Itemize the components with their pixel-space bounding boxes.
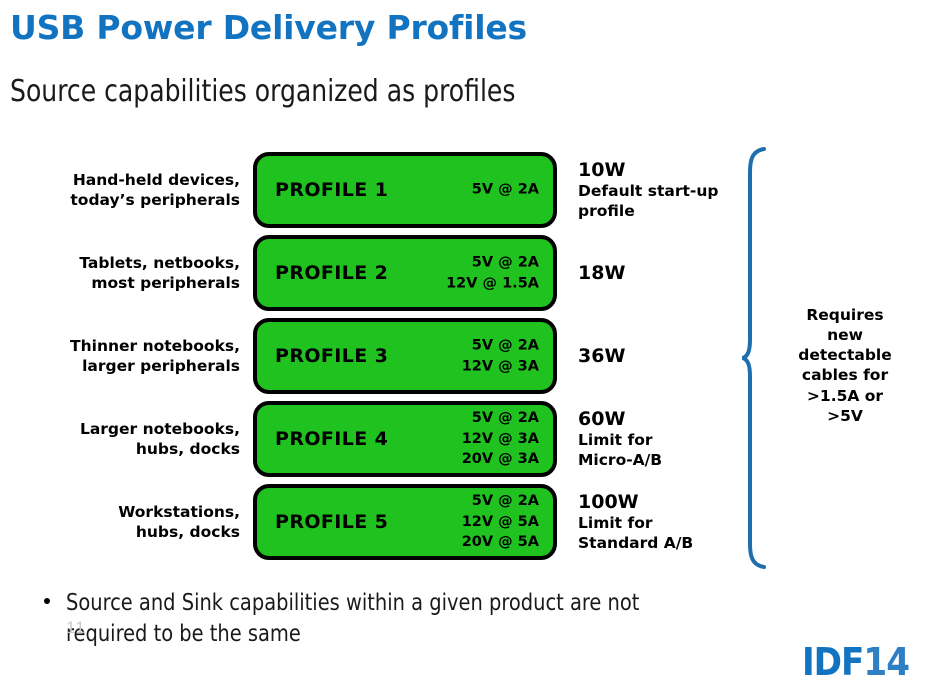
profile-row: Hand-held devices, today’s peripherals P… bbox=[0, 152, 927, 228]
profile-box[interactable]: PROFILE 2 5V @ 2A 12V @ 1.5A bbox=[253, 235, 557, 311]
brace-note-line: new bbox=[772, 325, 918, 345]
page-subtitle: Source capabilities organized as profile… bbox=[10, 74, 515, 109]
profile-name: PROFILE 3 bbox=[275, 345, 388, 367]
device-label: Tablets, netbooks, most peripherals bbox=[12, 235, 240, 311]
brace-note-line: >1.5A or bbox=[772, 386, 918, 406]
brace-note-line: cables for bbox=[772, 365, 918, 385]
device-label: Larger notebooks, hubs, docks bbox=[12, 401, 240, 477]
power-label: 36W bbox=[578, 318, 748, 394]
power-note-line: Limit for bbox=[578, 431, 748, 451]
bullet-text-line: required to be the same bbox=[66, 619, 807, 650]
brace-note-line: >5V bbox=[772, 406, 918, 426]
voltage-line: 20V @ 5A bbox=[462, 532, 539, 553]
voltage-line: 12V @ 3A bbox=[462, 429, 539, 450]
voltage-line: 12V @ 1.5A bbox=[446, 273, 539, 294]
power-watts: 60W bbox=[578, 407, 748, 431]
power-label: 18W bbox=[578, 235, 748, 311]
voltage-line: 5V @ 2A bbox=[472, 180, 539, 201]
power-note-line: Default start-up bbox=[578, 182, 748, 202]
power-label: 100W Limit for Standard A/B bbox=[578, 484, 748, 560]
device-label-line: Workstations, bbox=[118, 502, 240, 522]
power-note-line: profile bbox=[578, 202, 748, 222]
device-label: Thinner notebooks, larger peripherals bbox=[12, 318, 240, 394]
profile-row: Tablets, netbooks, most peripherals PROF… bbox=[0, 235, 927, 311]
profile-row: Workstations, hubs, docks PROFILE 5 5V @… bbox=[0, 484, 927, 560]
device-label-line: Thinner notebooks, bbox=[70, 336, 240, 356]
profile-box[interactable]: PROFILE 1 5V @ 2A bbox=[253, 152, 557, 228]
device-label-line: hubs, docks bbox=[136, 439, 240, 459]
bullet-text: Source and Sink capabilities within a gi… bbox=[66, 588, 807, 649]
profile-box[interactable]: PROFILE 3 5V @ 2A 12V @ 3A bbox=[253, 318, 557, 394]
device-label-line: Hand-held devices, bbox=[73, 170, 240, 190]
voltage-list: 5V @ 2A 12V @ 1.5A bbox=[446, 252, 539, 293]
device-label-line: hubs, docks bbox=[136, 522, 240, 542]
brace-note: Requires new detectable cables for >1.5A… bbox=[772, 305, 918, 426]
device-label-line: Larger notebooks, bbox=[80, 419, 240, 439]
voltage-line: 5V @ 2A bbox=[462, 335, 539, 356]
power-watts: 10W bbox=[578, 158, 748, 182]
voltage-line: 12V @ 3A bbox=[462, 356, 539, 377]
brace-note-line: detectable bbox=[772, 345, 918, 365]
device-label: Workstations, hubs, docks bbox=[12, 484, 240, 560]
idf-logo: IDF14 bbox=[802, 640, 909, 684]
power-watts: 18W bbox=[578, 261, 748, 285]
power-label: 60W Limit for Micro-A/B bbox=[578, 401, 748, 477]
power-watts: 100W bbox=[578, 490, 748, 514]
bullet-dot-icon bbox=[44, 598, 50, 604]
voltage-line: 5V @ 2A bbox=[462, 491, 539, 512]
device-label-line: most peripherals bbox=[91, 273, 240, 293]
profile-name: PROFILE 5 bbox=[275, 511, 388, 533]
power-note-line: Standard A/B bbox=[578, 534, 748, 554]
curly-brace-icon bbox=[742, 146, 772, 570]
power-note-line: Micro-A/B bbox=[578, 451, 748, 471]
profile-box[interactable]: PROFILE 5 5V @ 2A 12V @ 5A 20V @ 5A bbox=[253, 484, 557, 560]
profile-box[interactable]: PROFILE 4 5V @ 2A 12V @ 3A 20V @ 3A bbox=[253, 401, 557, 477]
voltage-line: 5V @ 2A bbox=[446, 252, 539, 273]
voltage-list: 5V @ 2A 12V @ 3A 20V @ 3A bbox=[462, 408, 539, 470]
power-label: 10W Default start-up profile bbox=[578, 152, 748, 228]
idf-logo-year: 14 bbox=[863, 640, 909, 684]
profile-name: PROFILE 1 bbox=[275, 179, 388, 201]
idf-logo-prefix: IDF bbox=[802, 640, 863, 684]
voltage-list: 5V @ 2A bbox=[472, 180, 539, 201]
device-label: Hand-held devices, today’s peripherals bbox=[12, 152, 240, 228]
voltage-list: 5V @ 2A 12V @ 5A 20V @ 5A bbox=[462, 491, 539, 553]
voltage-line: 20V @ 3A bbox=[462, 449, 539, 470]
profile-name: PROFILE 4 bbox=[275, 428, 388, 450]
page-title: USB Power Delivery Profiles bbox=[10, 8, 527, 47]
device-label-line: larger peripherals bbox=[82, 356, 240, 376]
brace-note-line: Requires bbox=[772, 305, 918, 325]
bullet-item: Source and Sink capabilities within a gi… bbox=[44, 588, 854, 649]
voltage-line: 12V @ 5A bbox=[462, 512, 539, 533]
profile-name: PROFILE 2 bbox=[275, 262, 388, 284]
voltage-list: 5V @ 2A 12V @ 3A bbox=[462, 335, 539, 376]
device-label-line: today’s peripherals bbox=[70, 190, 240, 210]
power-note-line: Limit for bbox=[578, 514, 748, 534]
bullet-text-line: Source and Sink capabilities within a gi… bbox=[66, 588, 807, 619]
voltage-line: 5V @ 2A bbox=[462, 408, 539, 429]
device-label-line: Tablets, netbooks, bbox=[79, 253, 240, 273]
power-watts: 36W bbox=[578, 344, 748, 368]
ghost-page-number-artifact: 11 bbox=[66, 618, 86, 638]
